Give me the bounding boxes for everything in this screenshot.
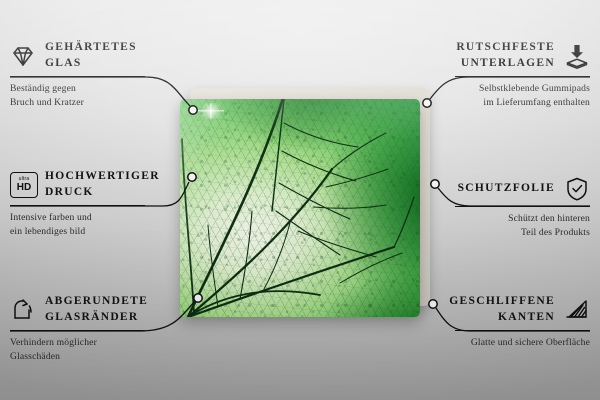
feature-title: GESCHLIFFENE KANTEN [449, 294, 555, 326]
divider [10, 205, 145, 206]
leaf-veins [180, 99, 420, 317]
divider [455, 330, 590, 331]
feature-title: SCHUTZFOLIE [458, 181, 555, 197]
feature-rounded-glass-edges: ABGERUNDETE GLASRÄNDER Verhindern möglic… [10, 294, 210, 364]
feature-heading: SCHUTZFOLIE [390, 176, 590, 202]
feature-ground-edges: GESCHLIFFENE KANTEN Glatte und sichere O… [390, 294, 590, 350]
shield-check-icon [564, 176, 590, 202]
feature-description: Verhindern möglicher Glasschäden [10, 336, 210, 364]
feature-description: Selbstklebende Gummipads im Lieferumfang… [390, 82, 590, 110]
feature-heading: ultra HD HOCHWERTIGER DRUCK [10, 169, 210, 201]
feature-title: GEHÄRTETES GLAS [45, 40, 137, 72]
feature-heading: RUTSCHFESTE UNTERLAGEN [390, 40, 590, 72]
feature-description: Glatte und sichere Oberfläche [390, 336, 590, 350]
feature-non-slip-pads: RUTSCHFESTE UNTERLAGEN Selbstklebende Gu… [390, 40, 590, 110]
feature-protective-film: SCHUTZFOLIE Schützt den hinteren Teil de… [390, 176, 590, 240]
feature-description: Beständig gegen Bruch und Kratzer [10, 82, 210, 110]
ultra-hd-icon: ultra HD [10, 172, 36, 198]
feature-description: Intensive farben und ein lebendiges bild [10, 211, 210, 239]
press-pad-icon [564, 43, 590, 69]
feature-tempered-glass: GEHÄRTETES GLAS Beständig gegen Bruch un… [10, 40, 210, 110]
hatched-wedge-icon [564, 297, 590, 323]
feature-heading: GESCHLIFFENE KANTEN [390, 294, 590, 326]
diamond-icon [10, 43, 36, 69]
divider [455, 206, 590, 207]
divider [10, 330, 145, 331]
feature-title: HOCHWERTIGER DRUCK [45, 169, 160, 201]
feature-title: ABGERUNDETE GLASRÄNDER [45, 294, 148, 326]
rounded-corner-icon [10, 297, 36, 323]
leaf-photo [180, 99, 420, 317]
feature-title: RUTSCHFESTE UNTERLAGEN [456, 40, 555, 72]
feature-heading: GEHÄRTETES GLAS [10, 40, 210, 72]
feature-heading: ABGERUNDETE GLASRÄNDER [10, 294, 210, 326]
divider [10, 76, 145, 77]
feature-high-quality-print: ultra HD HOCHWERTIGER DRUCK Intensive fa… [10, 169, 210, 239]
printed-glass-surface [180, 99, 420, 317]
divider [455, 76, 590, 77]
feature-description: Schützt den hinteren Teil des Produkts [390, 212, 590, 240]
infographic-canvas: GEHÄRTETES GLAS Beständig gegen Bruch un… [0, 0, 600, 400]
